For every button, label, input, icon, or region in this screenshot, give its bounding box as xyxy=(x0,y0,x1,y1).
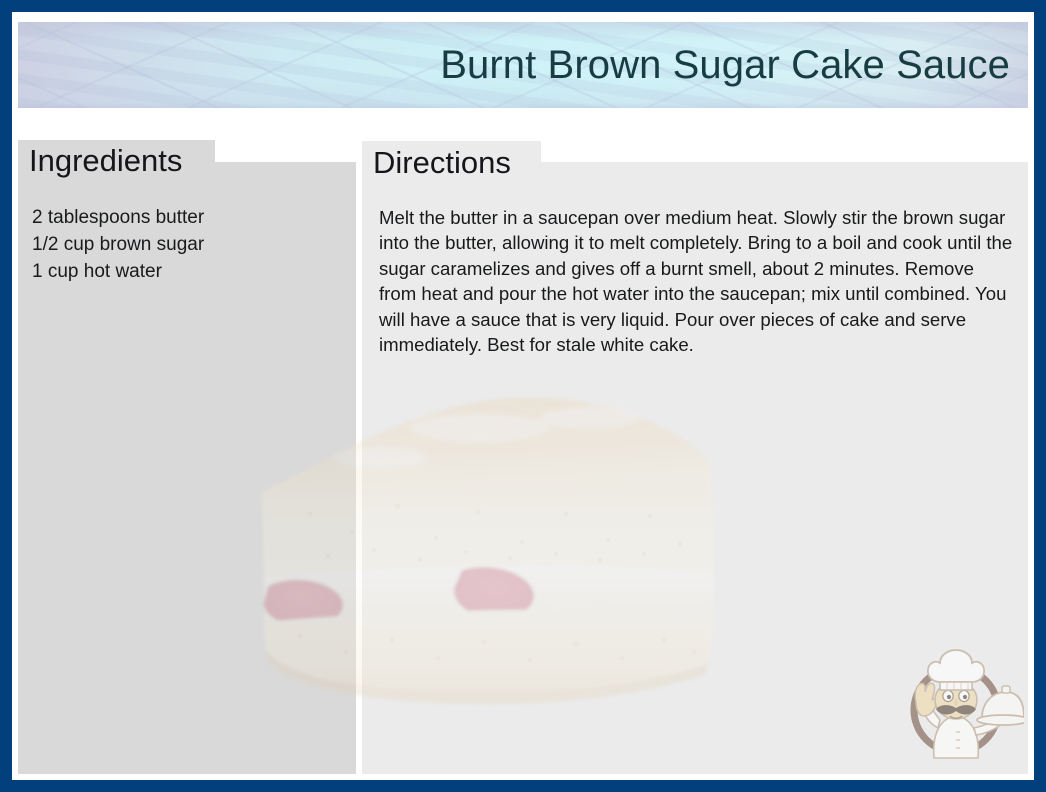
section-header-directions: Directions xyxy=(362,141,541,183)
ingredients-heading: Ingredients xyxy=(29,145,182,176)
section-header-ingredients: Ingredients xyxy=(18,140,215,180)
directions-text: Melt the butter in a saucepan over mediu… xyxy=(379,205,1014,357)
list-item: 2 tablespoons butter xyxy=(32,204,332,231)
recipe-card: Burnt Brown Sugar Cake Sauce xyxy=(0,0,1046,792)
chef-logo-icon xyxy=(894,640,1024,766)
title-banner: Burnt Brown Sugar Cake Sauce xyxy=(18,22,1028,108)
list-item: 1 cup hot water xyxy=(32,258,332,285)
ingredients-list: 2 tablespoons butter 1/2 cup brown sugar… xyxy=(32,204,332,285)
recipe-title: Burnt Brown Sugar Cake Sauce xyxy=(440,45,1010,85)
recipe-card-inner: Burnt Brown Sugar Cake Sauce xyxy=(12,12,1034,780)
directions-heading: Directions xyxy=(373,147,511,178)
list-item: 1/2 cup brown sugar xyxy=(32,231,332,258)
